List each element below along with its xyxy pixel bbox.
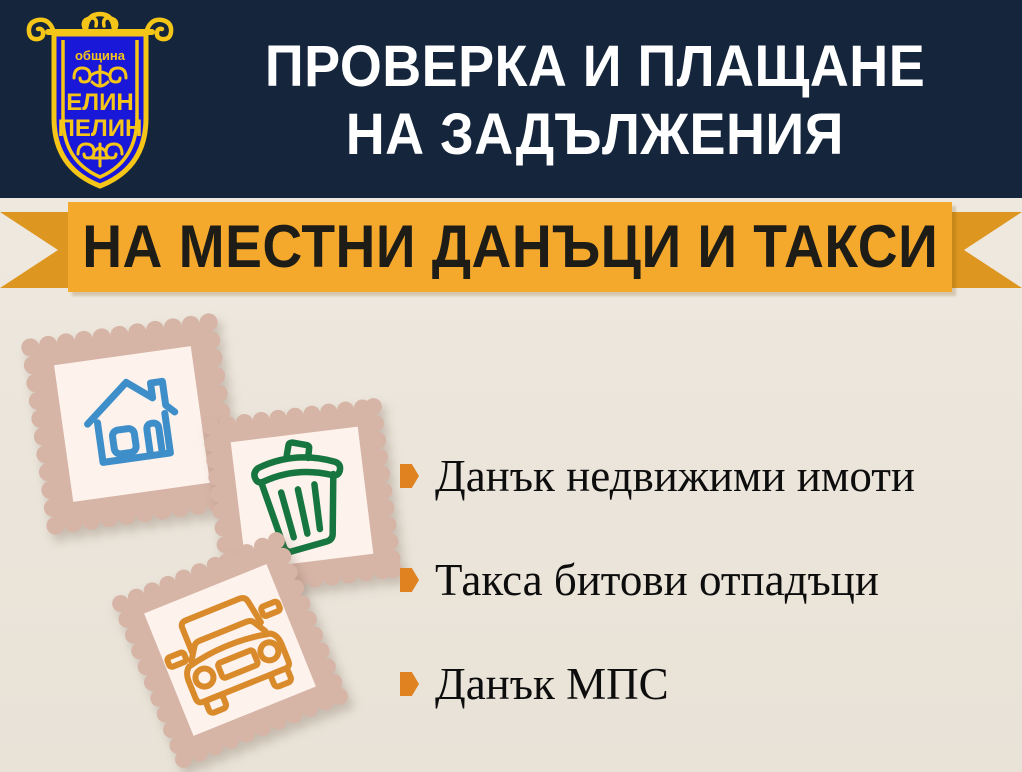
list-item[interactable]: Данък МПС bbox=[400, 632, 1010, 736]
municipality-logo: община ЕЛИН ПЕЛИН bbox=[24, 6, 176, 192]
tax-types-list: Данък недвижими имоти Такса битови отпад… bbox=[400, 424, 1010, 736]
ribbon-text: НА МЕСТНИ ДАНЪЦИ И ТАКСИ bbox=[82, 217, 938, 277]
arrow-bullet-icon bbox=[400, 672, 419, 696]
logo-name-line2: ПЕЛИН bbox=[58, 115, 143, 142]
arrow-bullet-icon bbox=[400, 464, 419, 488]
poster-canvas: община ЕЛИН ПЕЛИН ПРОВЕРКА И ПЛАЩА bbox=[0, 0, 1022, 772]
arrow-bullet-icon bbox=[400, 568, 419, 592]
poster-title: ПРОВЕРКА И ПЛАЩАНЕ НА ЗАДЪЛЖЕНИЯ bbox=[180, 16, 1010, 186]
subtitle-ribbon: НА МЕСТНИ ДАНЪЦИ И ТАКСИ bbox=[0, 196, 1022, 300]
list-item[interactable]: Данък недвижими имоти bbox=[400, 424, 1010, 528]
list-item-label: Данък недвижими имоти bbox=[435, 450, 915, 502]
logo-top-text: община bbox=[75, 48, 126, 63]
list-item[interactable]: Такса битови отпадъци bbox=[400, 528, 1010, 632]
logo-name-line1: ЕЛИН bbox=[66, 89, 133, 116]
title-line-1: ПРОВЕРКА И ПЛАЩАНЕ bbox=[265, 33, 925, 101]
title-line-2: НА ЗАДЪЛЖЕНИЯ bbox=[346, 101, 844, 169]
list-item-label: Такса битови отпадъци bbox=[435, 554, 879, 606]
ribbon-banner: НА МЕСТНИ ДАНЪЦИ И ТАКСИ bbox=[68, 202, 952, 292]
list-item-label: Данък МПС bbox=[435, 658, 669, 710]
stamp-card-car bbox=[110, 530, 350, 770]
